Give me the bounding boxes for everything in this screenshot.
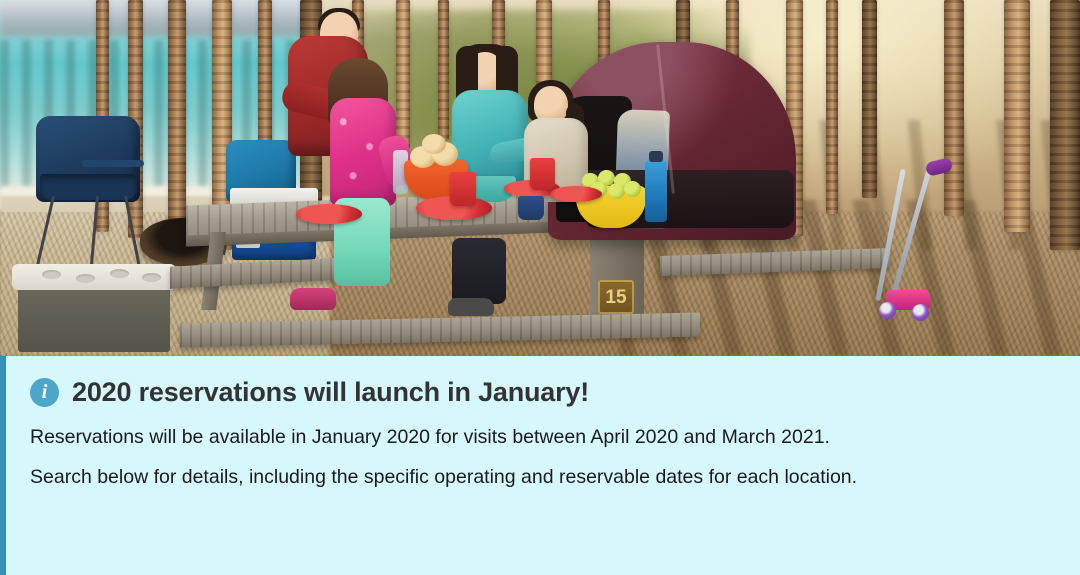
navy-camp-chair xyxy=(36,116,140,202)
legs xyxy=(452,238,506,304)
red-cup xyxy=(530,158,555,190)
tree-trunk xyxy=(826,0,838,214)
tree-trunk xyxy=(1050,0,1080,250)
campsite-number: 15 xyxy=(605,288,626,307)
page-root: 15 xyxy=(0,0,1080,575)
shoe xyxy=(290,288,336,310)
campsite-number-plaque: 15 xyxy=(598,280,634,314)
red-plate xyxy=(550,186,602,202)
tree-trunk xyxy=(1004,0,1030,232)
scooter-wheel xyxy=(879,302,896,319)
tree-trunk xyxy=(944,0,964,216)
red-cup xyxy=(450,172,476,206)
scooter-wheel xyxy=(912,304,929,321)
red-plate xyxy=(296,204,362,224)
tree-trunk xyxy=(168,0,186,244)
alert-title: 2020 reservations will launch in January… xyxy=(72,378,589,408)
alert-header: i 2020 reservations will launch in Janua… xyxy=(30,378,1050,408)
tree-trunk xyxy=(862,0,877,198)
reservation-alert-banner: i 2020 reservations will launch in Janua… xyxy=(0,356,1080,575)
blue-water-bottle xyxy=(645,160,667,222)
alert-paragraph-1: Reservations will be available in Januar… xyxy=(30,424,1050,452)
scooter-deck xyxy=(886,290,930,310)
alert-paragraph-2: Search below for details, including the … xyxy=(30,464,1050,492)
shoe xyxy=(448,298,494,316)
info-icon: i xyxy=(30,378,59,407)
tree-trunk xyxy=(396,0,410,150)
tree-trunk xyxy=(438,0,449,140)
white-cooler xyxy=(18,278,170,352)
blue-mug xyxy=(518,196,544,220)
campsite-hero-image: 15 xyxy=(0,0,1080,356)
